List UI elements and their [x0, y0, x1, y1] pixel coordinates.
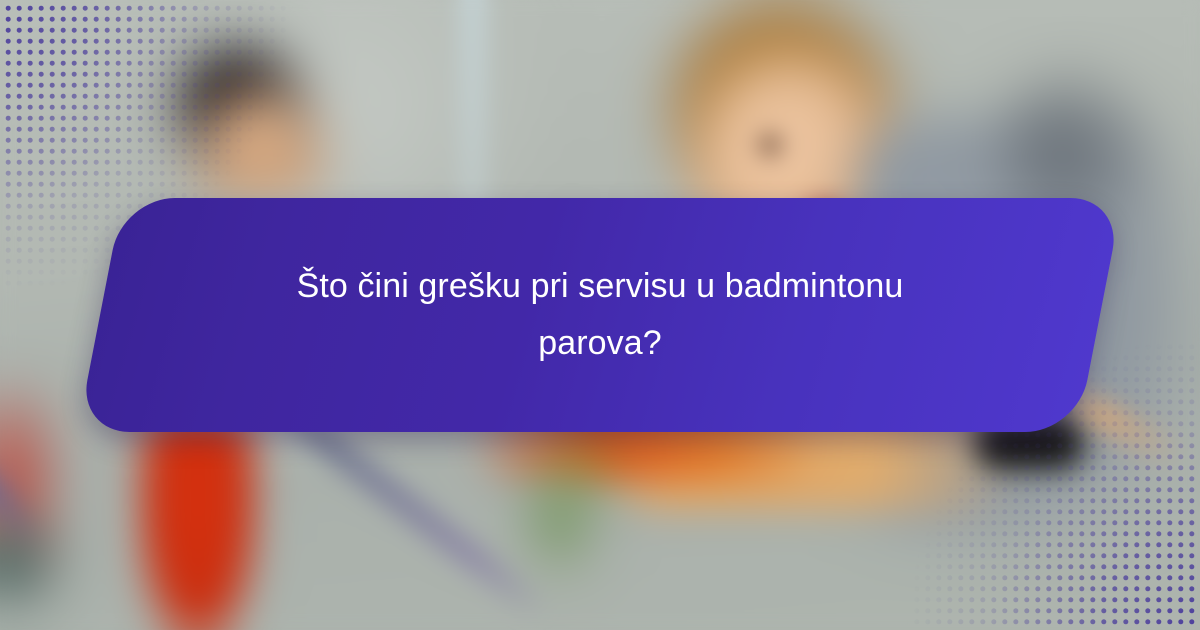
question-headline: Što čini grešku pri servisu u badmintonu… — [240, 258, 960, 372]
social-card-canvas: Što čini grešku pri servisu u badmintonu… — [0, 0, 1200, 630]
question-card-content: Što čini grešku pri servisu u badmintonu… — [100, 198, 1100, 432]
question-card: Što čini grešku pri servisu u badmintonu… — [100, 198, 1100, 432]
